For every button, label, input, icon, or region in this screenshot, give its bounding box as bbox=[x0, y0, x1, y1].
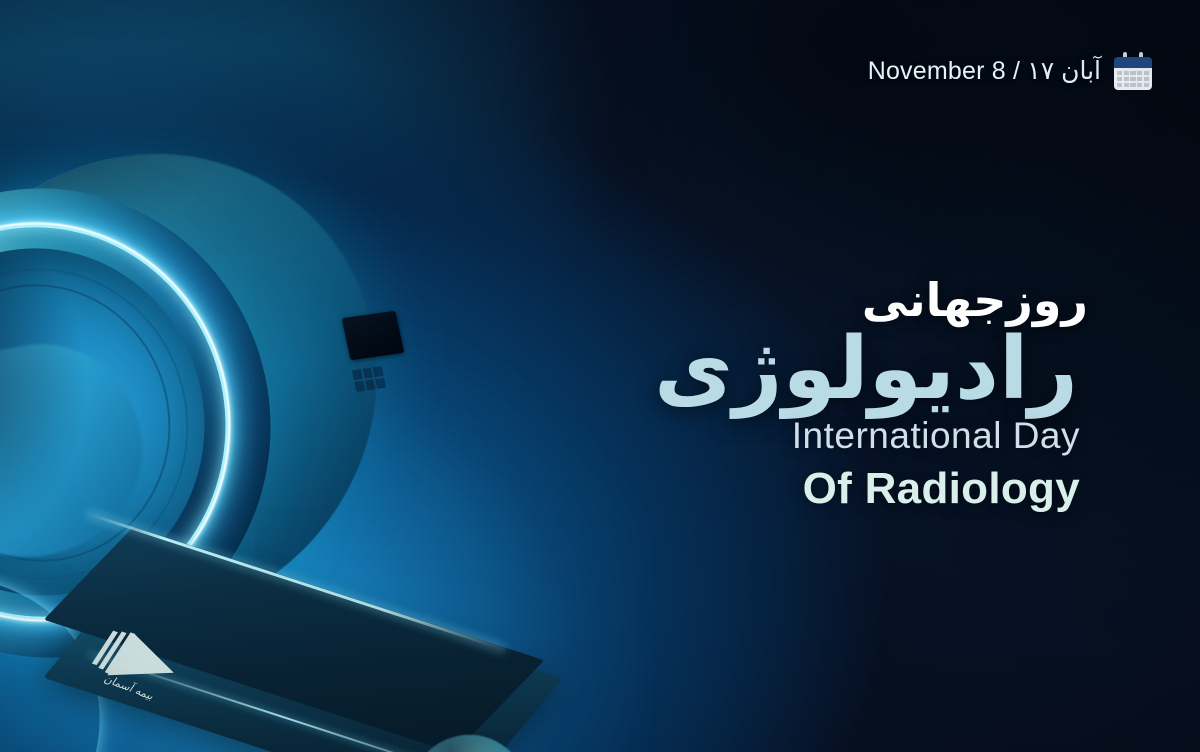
calendar-icon bbox=[1114, 52, 1152, 90]
poster-canvas: بیمه آسمان November 8 / ۱۷ آبان روزجهانی… bbox=[0, 0, 1200, 752]
headline-block: روزجهانی رادیولوژی International Day Of … bbox=[468, 276, 1088, 513]
scanner-control-buttons bbox=[352, 366, 386, 392]
headline-english-line2: Of Radiology bbox=[468, 464, 1080, 513]
mri-scanner-illustration: بیمه آسمان bbox=[0, 150, 470, 750]
headline-persian-line1: روزجهانی bbox=[468, 276, 1088, 324]
scanner-display-panel bbox=[342, 311, 405, 361]
headline-english-line1: International Day bbox=[468, 416, 1080, 456]
date-label: November 8 / ۱۷ آبان bbox=[868, 56, 1101, 86]
calendar-grid bbox=[1114, 68, 1152, 90]
headline-persian-line2: رادیولوژی bbox=[468, 326, 1078, 414]
date-badge: November 8 / ۱۷ آبان bbox=[868, 52, 1152, 90]
